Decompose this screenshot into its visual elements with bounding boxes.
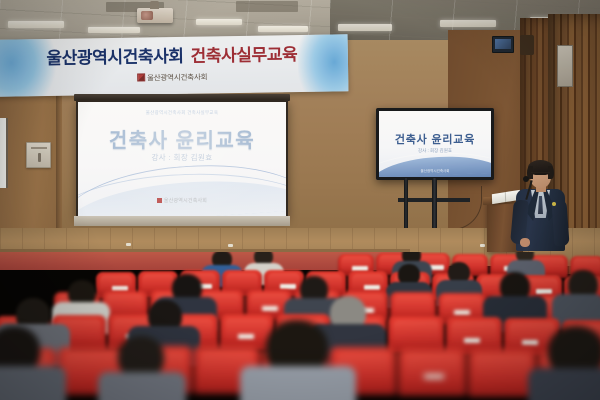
tv-cart-pole <box>404 178 408 234</box>
seat-number-label <box>522 340 538 345</box>
seat[interactable] <box>468 349 536 397</box>
slide-footer-logo: 울산광역시건축사회 <box>78 197 286 204</box>
banner-title-event: 건축사실무교육 <box>190 45 297 66</box>
seat-number-label <box>464 338 480 343</box>
control-box-label <box>31 147 47 149</box>
microphone-head <box>523 176 529 182</box>
left-wall-edge <box>56 95 61 235</box>
seat-number-label <box>424 374 444 379</box>
audience-seating <box>0 252 600 400</box>
slide-subtitle: 강사 : 회장 김원효 <box>78 152 286 163</box>
secondary-monitor <box>492 36 514 53</box>
banner-organization-text: 울산광역시건축사회 <box>147 72 207 82</box>
presenter-glasses <box>531 172 550 176</box>
slide-footer-logo-text: 울산광역시건축사회 <box>164 198 207 204</box>
tv-footer-logo: 울산광역시건축사회 <box>379 169 491 174</box>
ceiling-light <box>258 26 308 32</box>
floor-marker <box>228 244 233 247</box>
seat[interactable] <box>398 348 466 396</box>
projected-slide: 울산광역시건축사회 건축사실무교육 건축사 윤리교육 강사 : 회장 김원효 울… <box>78 102 286 216</box>
ceiling-light <box>440 20 496 27</box>
seat-number-label <box>536 289 552 294</box>
tv-slide-title: 건축사 윤리교육 <box>379 131 491 147</box>
slide-title: 건축사 윤리교육 <box>78 124 286 153</box>
banner-title: 울산광역시건축사회건축사실무교육 <box>0 43 348 71</box>
attendee-body <box>240 366 356 400</box>
slide-logo-icon <box>157 198 162 203</box>
projection-screen: 울산광역시건축사회 건축사실무교육 건축사 윤리교육 강사 : 회장 김원효 울… <box>76 100 288 218</box>
ceiling-light <box>338 24 392 31</box>
presenter-arm <box>551 200 569 247</box>
association-logo-icon <box>137 73 145 81</box>
ceiling-light <box>88 27 140 33</box>
whiteboard <box>0 118 8 188</box>
presenter-lapel-pin <box>552 202 556 206</box>
ceiling-tile <box>236 1 298 12</box>
slide-header-text: 울산광역시건축사회 건축사실무교육 <box>78 110 286 116</box>
auditorium-photo: 울산광역시건축사회건축사실무교육 울산광역시건축사회 울산광역시건축사회 건축사… <box>0 0 600 400</box>
seat-number-label <box>454 310 470 315</box>
wall-speaker <box>520 35 534 55</box>
banner-title-organization: 울산광역시건축사회 <box>46 47 183 68</box>
attendee-body <box>98 372 186 400</box>
attendee-body <box>528 368 600 400</box>
tv-screen: 건축사 윤리교육 강사 : 회장 김원효 울산광역시건축사회 <box>379 111 491 177</box>
event-banner: 울산광역시건축사회건축사실무교육 울산광역시건축사회 <box>0 34 348 97</box>
wall-control-box[interactable] <box>26 142 51 168</box>
wall-vent <box>557 45 573 87</box>
control-box-switch[interactable] <box>38 153 41 162</box>
screen-lower-wall <box>74 216 290 226</box>
tv-monitor: 건축사 윤리교육 강사 : 회장 김원효 울산광역시건축사회 <box>376 108 494 180</box>
ceiling-projector <box>137 8 173 23</box>
ceiling-light <box>8 21 64 28</box>
seat-number-label <box>280 284 296 289</box>
projector-lens <box>141 11 153 20</box>
seat-number-label <box>364 285 380 290</box>
seat-number-label <box>238 334 254 339</box>
seat-number-label <box>262 306 278 311</box>
presenter-hand <box>520 238 530 247</box>
attendee-body <box>0 366 66 400</box>
ceiling-light <box>196 19 242 25</box>
floor-marker <box>480 244 485 247</box>
floor-marker <box>126 243 131 246</box>
